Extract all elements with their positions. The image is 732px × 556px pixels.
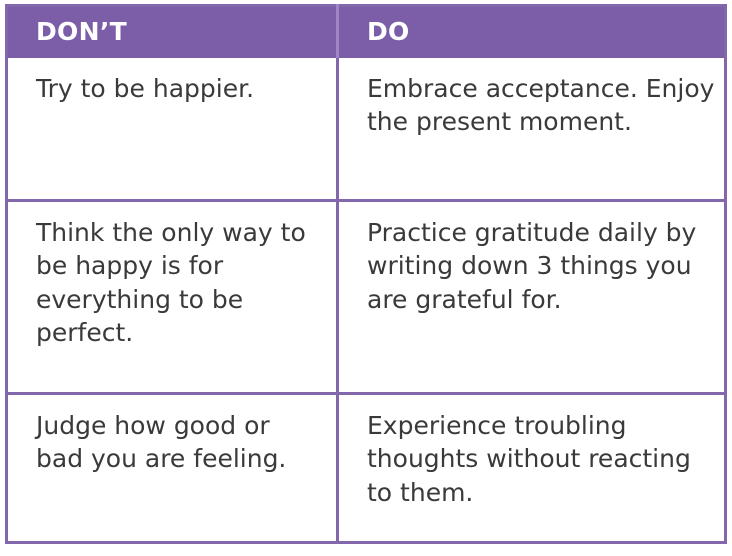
cell-dont-2: Think the only way to be happy is for ev… [7, 201, 338, 394]
cell-dont-1: Try to be happier. [7, 58, 338, 201]
cell-dont-3: Judge how good or bad you are feeling. [7, 394, 338, 543]
cell-do-1-text: Embrace acceptance. Enjoy the present mo… [367, 72, 716, 139]
cell-dont-2-text: Think the only way to be happy is for ev… [36, 216, 324, 349]
column-header-do-label: DO [367, 17, 724, 46]
cell-dont-3-text: Judge how good or bad you are feeling. [36, 409, 324, 476]
cell-do-3: Experience troubling thoughts without re… [338, 394, 726, 543]
cell-do-2: Practice gratitude daily by writing down… [338, 201, 726, 394]
header-row: DON’T DO [7, 6, 726, 58]
column-header-dont-label: DON’T [36, 17, 336, 46]
table-header: DON’T DO [7, 6, 726, 58]
cell-dont-1-text: Try to be happier. [36, 72, 324, 105]
table-row: Think the only way to be happy is for ev… [7, 201, 726, 394]
table-row: Try to be happier. Embrace acceptance. E… [7, 58, 726, 201]
do-dont-table: DON’T DO Try to be happier. Embrace acce… [5, 4, 727, 544]
table-row: Judge how good or bad you are feeling. E… [7, 394, 726, 543]
column-header-do: DO [338, 6, 726, 58]
page-root: DON’T DO Try to be happier. Embrace acce… [0, 0, 732, 556]
do-dont-table-container: DON’T DO Try to be happier. Embrace acce… [5, 4, 724, 544]
cell-do-2-text: Practice gratitude daily by writing down… [367, 216, 716, 316]
cell-do-3-text: Experience troubling thoughts without re… [367, 409, 716, 509]
cell-do-1: Embrace acceptance. Enjoy the present mo… [338, 58, 726, 201]
table-body: Try to be happier. Embrace acceptance. E… [7, 58, 726, 543]
column-header-dont: DON’T [7, 6, 338, 58]
